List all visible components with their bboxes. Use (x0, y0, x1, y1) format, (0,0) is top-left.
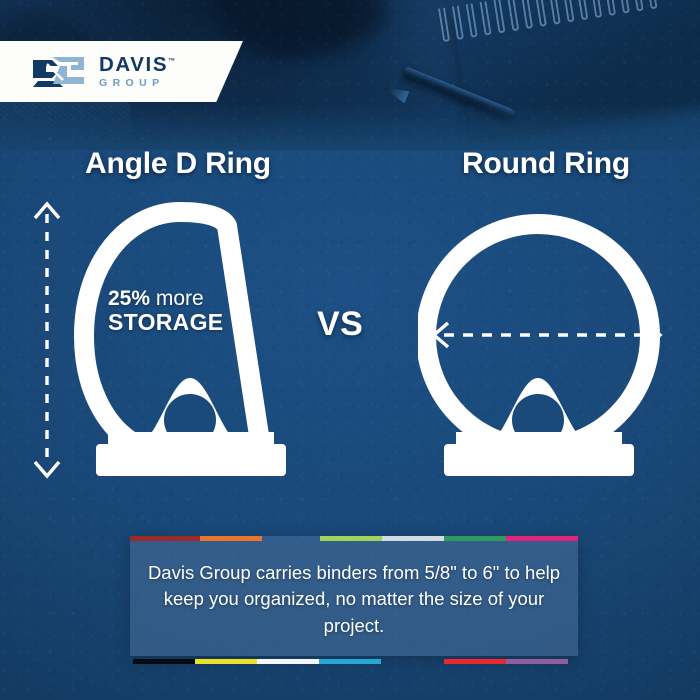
spiral-ring (507, 0, 519, 31)
spiral-ring (590, 0, 602, 18)
dg-monogram-icon (32, 55, 88, 89)
spiral-ring (480, 1, 492, 36)
angle-d-ring-binder-icon (62, 196, 317, 481)
spiral-ring (618, 0, 630, 14)
left-ring-title: Angle D Ring (85, 147, 271, 181)
infographic-canvas: DAVIS™ GROUP Angle D Ring Round Ring 25%… (0, 0, 700, 700)
stripe-segment (319, 659, 381, 664)
photo-fade (0, 104, 700, 150)
logo-name: DAVIS™ (99, 55, 175, 76)
stripe-segment (195, 659, 257, 664)
stripe-segment (130, 536, 200, 541)
spiral-ring (562, 0, 574, 23)
storage-badge-line1: 25% more (108, 288, 258, 310)
stripe-segment (444, 536, 506, 541)
trademark-symbol: ™ (168, 58, 175, 65)
stripe-segment (506, 536, 578, 541)
stripe-segment (257, 659, 319, 664)
spiral-ring (645, 0, 657, 9)
logo-wordmark: DAVIS™ GROUP (99, 55, 175, 89)
horizontal-double-arrow-icon (428, 316, 666, 354)
stripe-segment (381, 659, 444, 664)
spiral-ring (521, 0, 533, 29)
stripe-segment (320, 536, 382, 541)
versus-label: VS (317, 305, 363, 344)
caption-text: Davis Group carries binders from 5/8" to… (130, 560, 578, 639)
spiral-ring (535, 0, 547, 27)
storage-more: more (150, 287, 204, 310)
stripe-segment (506, 659, 568, 664)
spiral-ring (452, 5, 464, 40)
spiral-ring (604, 0, 616, 16)
right-ring-title: Round Ring (462, 147, 630, 181)
color-stripe-bottom (133, 659, 568, 664)
spiral-ring (632, 0, 644, 12)
storage-badge-line2: STORAGE (108, 310, 258, 334)
logo-banner[interactable]: DAVIS™ GROUP (0, 41, 243, 102)
stripe-segment (444, 659, 506, 664)
logo-subname: GROUP (99, 78, 175, 89)
color-stripe-top (130, 536, 578, 541)
stripe-segment (200, 536, 262, 541)
stripe-segment (382, 536, 444, 541)
spiral-ring (576, 0, 588, 20)
storage-percent: 25% (108, 287, 150, 310)
caption-panel: Davis Group carries binders from 5/8" to… (130, 536, 578, 656)
spiral-ring (493, 0, 505, 34)
storage-badge: 25% more STORAGE (108, 288, 258, 335)
vertical-double-arrow-icon (27, 200, 67, 480)
spiral-ring (466, 3, 478, 38)
spiral-ring (549, 0, 561, 25)
stripe-segment (262, 536, 320, 541)
stripe-segment (133, 659, 195, 664)
